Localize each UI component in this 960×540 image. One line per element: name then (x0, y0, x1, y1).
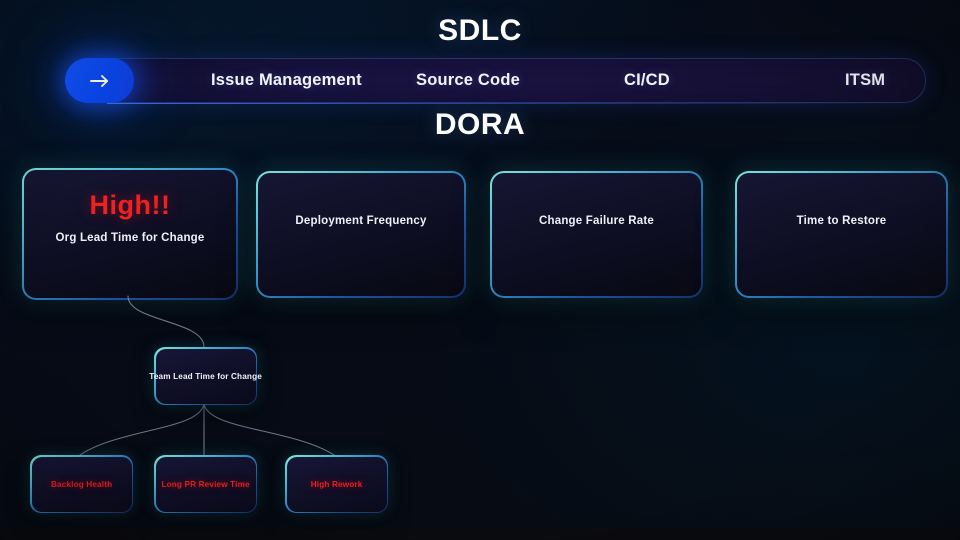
tree-node-label: Backlog Health (51, 480, 112, 489)
tree-node-label: Long PR Review Time (161, 480, 249, 489)
tree-node-team-lead-time-for-change[interactable]: Team Lead Time for Change (154, 347, 257, 405)
sdlc-pipeline-bar[interactable]: Issue Management Source Code CI/CD ITSM (66, 58, 926, 103)
metric-card-time-to-restore[interactable]: Time to Restore (735, 171, 948, 298)
metric-card-title: Org Lead Time for Change (56, 232, 205, 244)
pipeline-stage-source-code[interactable]: Source Code (416, 71, 520, 90)
tree-node-backlog-health[interactable]: Backlog Health (30, 455, 133, 513)
sdlc-heading: SDLC (0, 14, 960, 48)
slide-canvas: SDLC Issue Management Source Code CI/CD … (0, 0, 960, 540)
background-bottom-band (0, 528, 960, 540)
tree-node-label: High Rework (311, 480, 363, 489)
metric-card-org-lead-time-for-change[interactable]: High!! Org Lead Time for Change (22, 168, 238, 300)
metric-card-title: Deployment Frequency (295, 215, 426, 227)
arrow-right-icon (89, 73, 111, 89)
tree-node-label: Team Lead Time for Change (149, 372, 262, 381)
pipeline-stage-itsm[interactable]: ITSM (845, 71, 885, 90)
metric-card-change-failure-rate[interactable]: Change Failure Rate (490, 171, 703, 298)
tree-node-high-rework[interactable]: High Rework (285, 455, 388, 513)
tree-node-long-pr-review-time[interactable]: Long PR Review Time (154, 455, 257, 513)
metric-card-deployment-frequency[interactable]: Deployment Frequency (256, 171, 466, 298)
metric-alert-badge: High!! (90, 190, 171, 221)
pipeline-stage-issue-management[interactable]: Issue Management (211, 71, 362, 90)
pipeline-start-button[interactable] (65, 58, 134, 103)
pipeline-stage-ci-cd[interactable]: CI/CD (624, 71, 670, 90)
dora-heading: DORA (0, 108, 960, 142)
metric-card-title: Change Failure Rate (539, 215, 654, 227)
metric-card-title: Time to Restore (797, 215, 887, 227)
